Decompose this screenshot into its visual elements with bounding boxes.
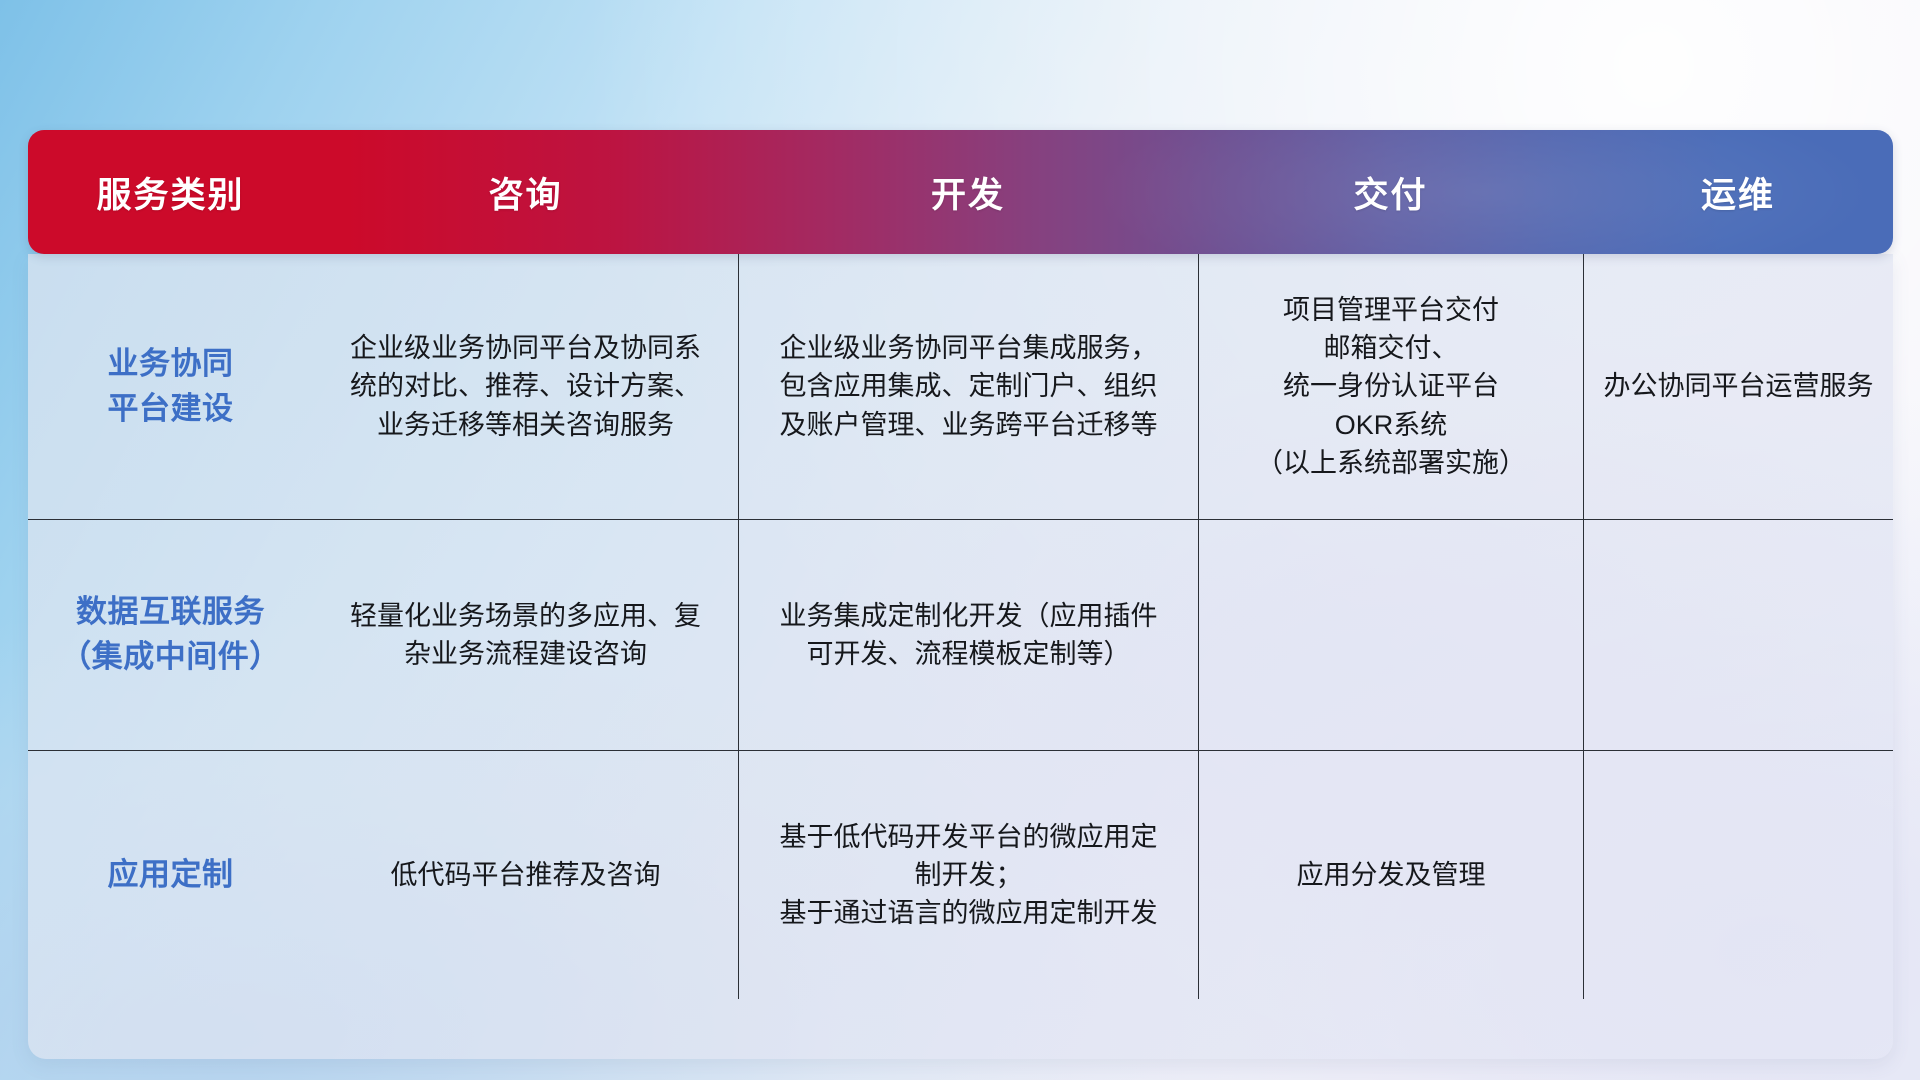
cell-row2-development: 业务集成定制化开发（应用插件 可开发、流程模板定制等）: [738, 520, 1198, 750]
table-body: 业务协同 平台建设 企业级业务协同平台及协同系 统的对比、推荐、设计方案、 业务…: [28, 254, 1893, 1059]
cell-row1-delivery: 项目管理平台交付 邮箱交付、 统一身份认证平台 OKR系统 （以上系统部署实施）: [1198, 254, 1583, 519]
row-label-application-customization: 应用定制: [28, 751, 313, 999]
cell-row2-consulting: 轻量化业务场景的多应用、复 杂业务流程建设咨询: [313, 520, 738, 750]
cell-row2-delivery: [1198, 520, 1583, 750]
table-row: 业务协同 平台建设 企业级业务协同平台及协同系 统的对比、推荐、设计方案、 业务…: [28, 254, 1893, 520]
cell-row3-delivery: 应用分发及管理: [1198, 751, 1583, 999]
cell-row3-operations: [1583, 751, 1893, 999]
header-cell-consulting: 咨询: [313, 167, 738, 218]
table-header-row: 服务类别 咨询 开发 交付 运维: [28, 130, 1893, 254]
cell-row1-operations: 办公协同平台运营服务: [1583, 254, 1893, 519]
cell-row2-operations: [1583, 520, 1893, 750]
header-cell-operations: 运维: [1583, 167, 1893, 218]
cell-row1-development: 企业级业务协同平台集成服务， 包含应用集成、定制门户、组织 及账户管理、业务跨平…: [738, 254, 1198, 519]
table-row: 数据互联服务 （集成中间件） 轻量化业务场景的多应用、复 杂业务流程建设咨询 业…: [28, 520, 1893, 751]
row-label-data-interconnection: 数据互联服务 （集成中间件）: [28, 520, 313, 750]
cell-row3-consulting: 低代码平台推荐及咨询: [313, 751, 738, 999]
header-cell-development: 开发: [738, 167, 1198, 218]
header-cell-service-category: 服务类别: [28, 167, 313, 218]
service-matrix-table: 服务类别 咨询 开发 交付 运维 业务协同 平台建设 企业级业务协同平台及协同系…: [28, 130, 1893, 1059]
table-row: 应用定制 低代码平台推荐及咨询 基于低代码开发平台的微应用定 制开发； 基于通过…: [28, 751, 1893, 999]
row-label-business-collaboration: 业务协同 平台建设: [28, 254, 313, 519]
header-cell-delivery: 交付: [1198, 167, 1583, 218]
cell-row3-development: 基于低代码开发平台的微应用定 制开发； 基于通过语言的微应用定制开发: [738, 751, 1198, 999]
cell-row1-consulting: 企业级业务协同平台及协同系 统的对比、推荐、设计方案、 业务迁移等相关咨询服务: [313, 254, 738, 519]
